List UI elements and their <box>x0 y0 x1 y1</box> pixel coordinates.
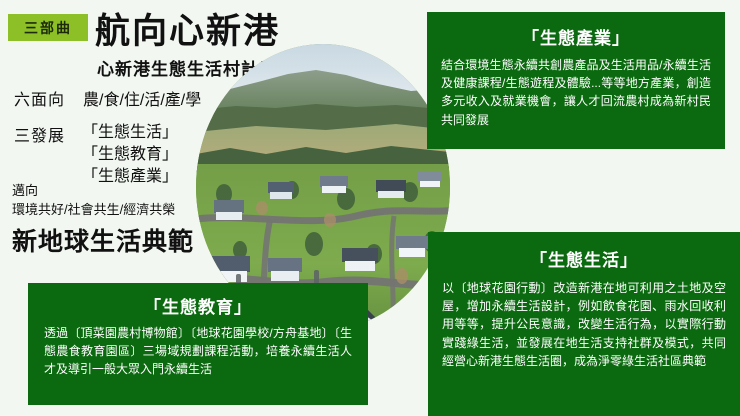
three-developments-label: 三發展 <box>14 122 65 146</box>
panel-eco-life-title: 「生態生活」 <box>442 246 726 271</box>
vision-statement: 新地球生活典範 <box>12 222 194 258</box>
panel-eco-industry-title: 「生態產業」 <box>441 24 711 49</box>
three-developments-list: 「生態生活」 「生態教育」 「生態產業」 <box>82 122 178 188</box>
three-developments-item-0: 「生態生活」 <box>82 122 178 144</box>
page-title: 航向心新港 <box>95 14 280 51</box>
panel-eco-industry: 「生態產業」 結合環境生態永續共創農產品及生活用品/永續生活及健康課程/生態遊程… <box>427 12 725 149</box>
toward-block: 邁向 環境共好/社會共生/經濟共榮 <box>12 182 175 220</box>
three-developments-item-1: 「生態教育」 <box>82 144 178 166</box>
six-aspects-label: 六面向 <box>14 92 65 109</box>
infographic-slide: 三部曲 航向心新港 心新港生態生活村計畫 六面向農/食/住/活/產/學 三發展 … <box>0 0 740 416</box>
panel-eco-education-body: 透過〔頂菜園農村博物館〕〔地球花園學校/方舟基地〕〔生態農食教育園區〕三場域規劃… <box>44 324 352 379</box>
panel-eco-industry-body: 結合環境生態永續共創農產品及生活用品/永續生活及健康課程/生態遊程及體驗...等… <box>441 56 711 129</box>
six-aspects-row: 六面向農/食/住/活/產/學 <box>14 86 201 110</box>
panel-eco-education-title: 「生態教育」 <box>44 293 352 318</box>
six-aspects-value: 農/食/住/活/產/學 <box>83 92 201 109</box>
panel-eco-education: 「生態教育」 透過〔頂菜園農村博物館〕〔地球花園學校/方舟基地〕〔生態農食教育園… <box>28 283 368 405</box>
trilogy-badge-label: 三部曲 <box>24 18 72 38</box>
toward-value: 環境共好/社會共生/經濟共榮 <box>12 201 175 220</box>
toward-label: 邁向 <box>12 182 175 201</box>
panel-eco-life-body: 以〔地球花園行動〕改造新港在地可利用之土地及空屋，增加永續生活設計，例如飲食花園… <box>442 279 726 370</box>
panel-eco-life: 「生態生活」 以〔地球花園行動〕改造新港在地可利用之土地及空屋，增加永續生活設計… <box>428 232 740 416</box>
trilogy-badge: 三部曲 <box>8 14 88 41</box>
